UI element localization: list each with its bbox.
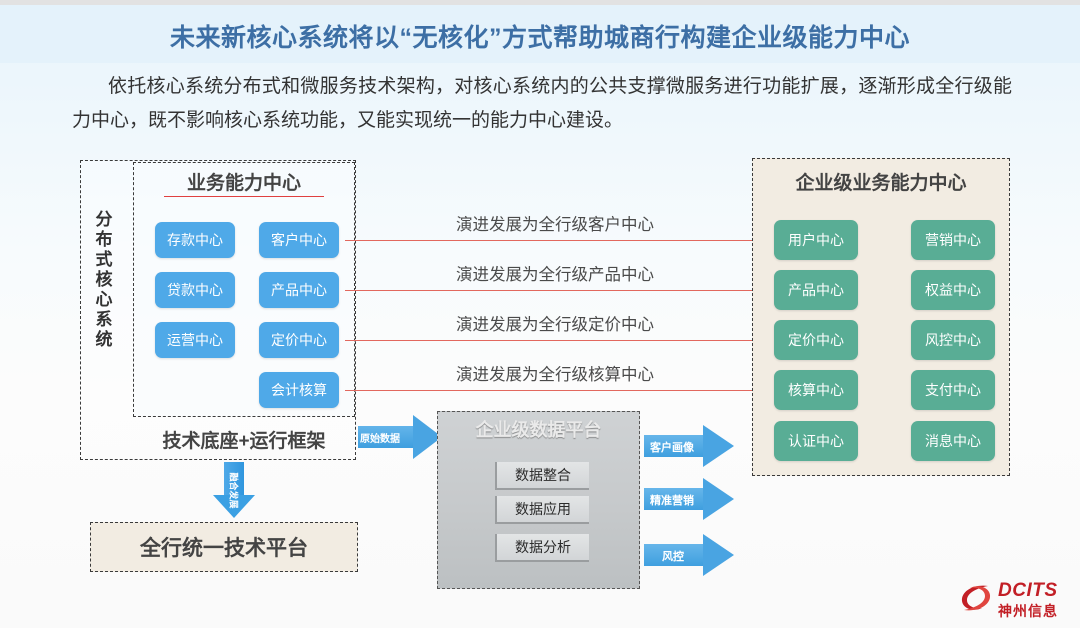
- business-capability-center-title: 业务能力中心: [164, 168, 324, 197]
- raw-data-arrow: 原始数据: [358, 415, 442, 459]
- enterprise-box-rights[interactable]: 权益中心: [911, 270, 995, 310]
- enterprise-capability-title: 企业级业务能力中心: [752, 168, 1010, 195]
- output-arrow-precision-marketing: 精准营销: [644, 478, 734, 520]
- page-title: 未来新核心系统将以“无核化”方式帮助城商行构建企业级能力中心: [0, 18, 1080, 54]
- output-arrow-label-risk-control: 风控: [662, 548, 684, 564]
- unified-tech-platform-box[interactable]: 全行统一技术平台: [90, 522, 358, 572]
- capability-box-pricing[interactable]: 定价中心: [259, 322, 339, 358]
- enterprise-box-payment[interactable]: 支付中心: [911, 370, 995, 410]
- company-logo: DCITS 神州信息: [958, 578, 1076, 622]
- enterprise-box-pricing[interactable]: 定价中心: [774, 320, 858, 360]
- capability-box-customer[interactable]: 客户中心: [259, 222, 339, 258]
- logo-brand-text: DCITS: [998, 580, 1058, 602]
- dcits-swirl-icon: [958, 582, 994, 619]
- vchar-6: 统: [84, 330, 124, 350]
- evolution-arrow-label-accounting: 演进发展为全行级核算中心: [456, 361, 654, 385]
- arrow-line: [345, 390, 757, 391]
- capability-box-product[interactable]: 产品中心: [259, 272, 339, 308]
- distributed-core-vertical-label: 分 布 式 核 心 系 统: [84, 210, 124, 350]
- enterprise-box-user[interactable]: 用户中心: [774, 220, 858, 260]
- data-platform-item-integration[interactable]: 数据整合: [495, 462, 589, 490]
- logo-brand-cn-text: 神州信息: [998, 601, 1058, 621]
- enterprise-data-platform-title: 企业级数据平台: [437, 416, 640, 442]
- arrow-line: [345, 240, 757, 241]
- capability-box-loan[interactable]: 贷款中心: [155, 272, 235, 308]
- capability-box-accounting[interactable]: 会计核算: [259, 372, 339, 408]
- evolution-arrow-label-product: 演进发展为全行级产品中心: [456, 261, 654, 285]
- subtitle-paragraph: 依托核心系统分布式和微服务技术架构，对核心系统内的公共支撑微服务进行功能扩展，逐…: [72, 70, 1012, 138]
- merge-development-down-arrow: 融合发展: [213, 462, 255, 518]
- data-platform-item-application[interactable]: 数据应用: [495, 496, 589, 524]
- arrow-line: [345, 340, 757, 341]
- enterprise-box-risk-control[interactable]: 风控中心: [911, 320, 995, 360]
- arrow-line: [345, 290, 757, 291]
- capability-box-deposit[interactable]: 存款中心: [155, 222, 235, 258]
- vchar-4: 心: [84, 290, 124, 310]
- out-arrow-head: [703, 478, 734, 520]
- output-arrow-label-customer-profile: 客户画像: [650, 439, 694, 455]
- evolution-arrow-label-customer: 演进发展为全行级客户中心: [456, 211, 654, 235]
- vchar-2: 式: [84, 250, 124, 270]
- enterprise-box-accounting[interactable]: 核算中心: [774, 370, 858, 410]
- output-arrow-customer-profile: 客户画像: [644, 425, 734, 467]
- out-arrow-head: [703, 534, 734, 576]
- vchar-1: 布: [84, 230, 124, 250]
- evolution-arrow-label-pricing: 演进发展为全行级定价中心: [456, 311, 654, 335]
- enterprise-box-message[interactable]: 消息中心: [911, 421, 995, 461]
- tech-base-label: 技术底座+运行框架: [133, 418, 355, 460]
- vchar-5: 系: [84, 310, 124, 330]
- slide-canvas: 未来新核心系统将以“无核化”方式帮助城商行构建企业级能力中心 依托核心系统分布式…: [0, 0, 1080, 628]
- out-arrow-head: [703, 425, 734, 467]
- output-arrow-label-precision-marketing: 精准营销: [650, 492, 694, 508]
- vchar-0: 分: [84, 210, 124, 230]
- enterprise-box-marketing[interactable]: 营销中心: [911, 220, 995, 260]
- raw-data-arrow-label: 原始数据: [360, 430, 400, 445]
- down-arrow-label: 融合发展: [228, 472, 241, 508]
- enterprise-box-product[interactable]: 产品中心: [774, 270, 858, 310]
- data-platform-item-analysis[interactable]: 数据分析: [495, 534, 589, 562]
- enterprise-box-authentication[interactable]: 认证中心: [774, 421, 858, 461]
- vchar-3: 核: [84, 270, 124, 290]
- output-arrow-risk-control: 风控: [644, 534, 734, 576]
- capability-box-operations[interactable]: 运营中心: [155, 322, 235, 358]
